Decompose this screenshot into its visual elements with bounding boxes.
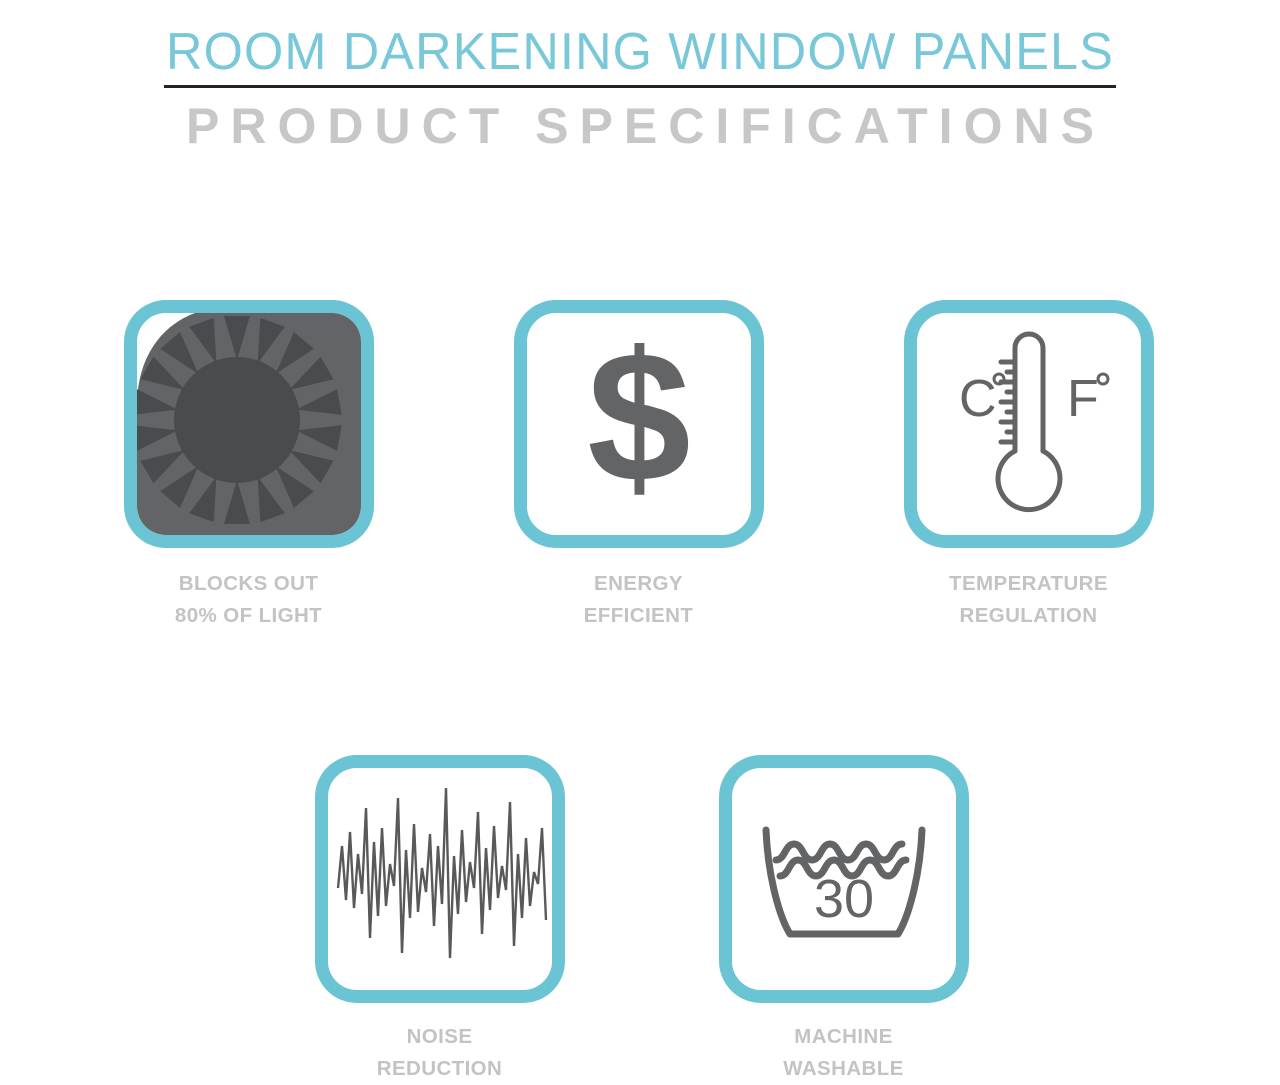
thermometer-icon: C F bbox=[917, 313, 1141, 535]
feature-tile[interactable]: $ bbox=[514, 300, 764, 548]
page-title: ROOM DARKENING WINDOW PANELS bbox=[19, 0, 1261, 79]
feature-tile[interactable]: 30 bbox=[719, 755, 969, 1003]
feature-tile[interactable] bbox=[315, 755, 565, 1003]
page-subtitle: PRODUCT SPECIFICATIONS bbox=[0, 88, 1280, 152]
caption-line-2: WASHABLE bbox=[783, 1053, 904, 1085]
page-header: ROOM DARKENING WINDOW PANELS PRODUCT SPE… bbox=[0, 0, 1280, 152]
caption-line-2: REDUCTION bbox=[377, 1053, 502, 1085]
wash-tub-icon: 30 bbox=[732, 768, 956, 990]
caption-line-1: TEMPERATURE bbox=[949, 572, 1108, 595]
feature-energy-efficient[interactable]: $ ENERGY EFFICIENT bbox=[444, 300, 834, 632]
celsius-label: C bbox=[959, 370, 997, 428]
feature-tile[interactable] bbox=[124, 300, 374, 548]
caption-line-1: ENERGY bbox=[594, 572, 683, 595]
feature-grid: BLOCKS OUT 80% OF LIGHT $ ENERGY EFFICIE… bbox=[0, 300, 1280, 1085]
caption-line-2: EFFICIENT bbox=[584, 600, 694, 632]
feature-caption: TEMPERATURE REGULATION bbox=[949, 568, 1108, 632]
feature-blocks-out-light[interactable]: BLOCKS OUT 80% OF LIGHT bbox=[54, 300, 444, 632]
fahrenheit-label: F bbox=[1067, 370, 1099, 428]
feature-caption: BLOCKS OUT 80% OF LIGHT bbox=[175, 568, 322, 632]
feature-caption: ENERGY EFFICIENT bbox=[584, 568, 694, 632]
fahrenheit-degree-icon bbox=[1098, 374, 1108, 384]
caption-line-2: 80% OF LIGHT bbox=[175, 600, 322, 632]
feature-caption: NOISE REDUCTION bbox=[377, 1021, 502, 1085]
caption-line-1: MACHINE bbox=[794, 1025, 892, 1048]
wash-temperature-label: 30 bbox=[813, 869, 873, 929]
sun-blocked-icon bbox=[137, 313, 361, 535]
dollar-sign-icon: $ bbox=[527, 313, 751, 535]
caption-line-2: REGULATION bbox=[949, 600, 1108, 632]
celsius-degree-icon bbox=[994, 374, 1004, 384]
sound-wave-icon bbox=[328, 768, 552, 990]
feature-tile[interactable]: C F bbox=[904, 300, 1154, 548]
feature-caption: MACHINE WASHABLE bbox=[783, 1021, 904, 1085]
feature-row-2: NOISE REDUCTION 30 MACHIN bbox=[3, 755, 1280, 1085]
feature-temperature-regulation[interactable]: C F TEMPERATURE REGULATION bbox=[834, 300, 1224, 632]
svg-text:$: $ bbox=[587, 314, 690, 521]
feature-noise-reduction[interactable]: NOISE REDUCTION bbox=[238, 755, 642, 1085]
feature-machine-washable[interactable]: 30 MACHINE WASHABLE bbox=[642, 755, 1046, 1085]
feature-row-1: BLOCKS OUT 80% OF LIGHT $ ENERGY EFFICIE… bbox=[0, 300, 1280, 632]
caption-line-1: BLOCKS OUT bbox=[179, 572, 319, 595]
caption-line-1: NOISE bbox=[407, 1025, 473, 1048]
